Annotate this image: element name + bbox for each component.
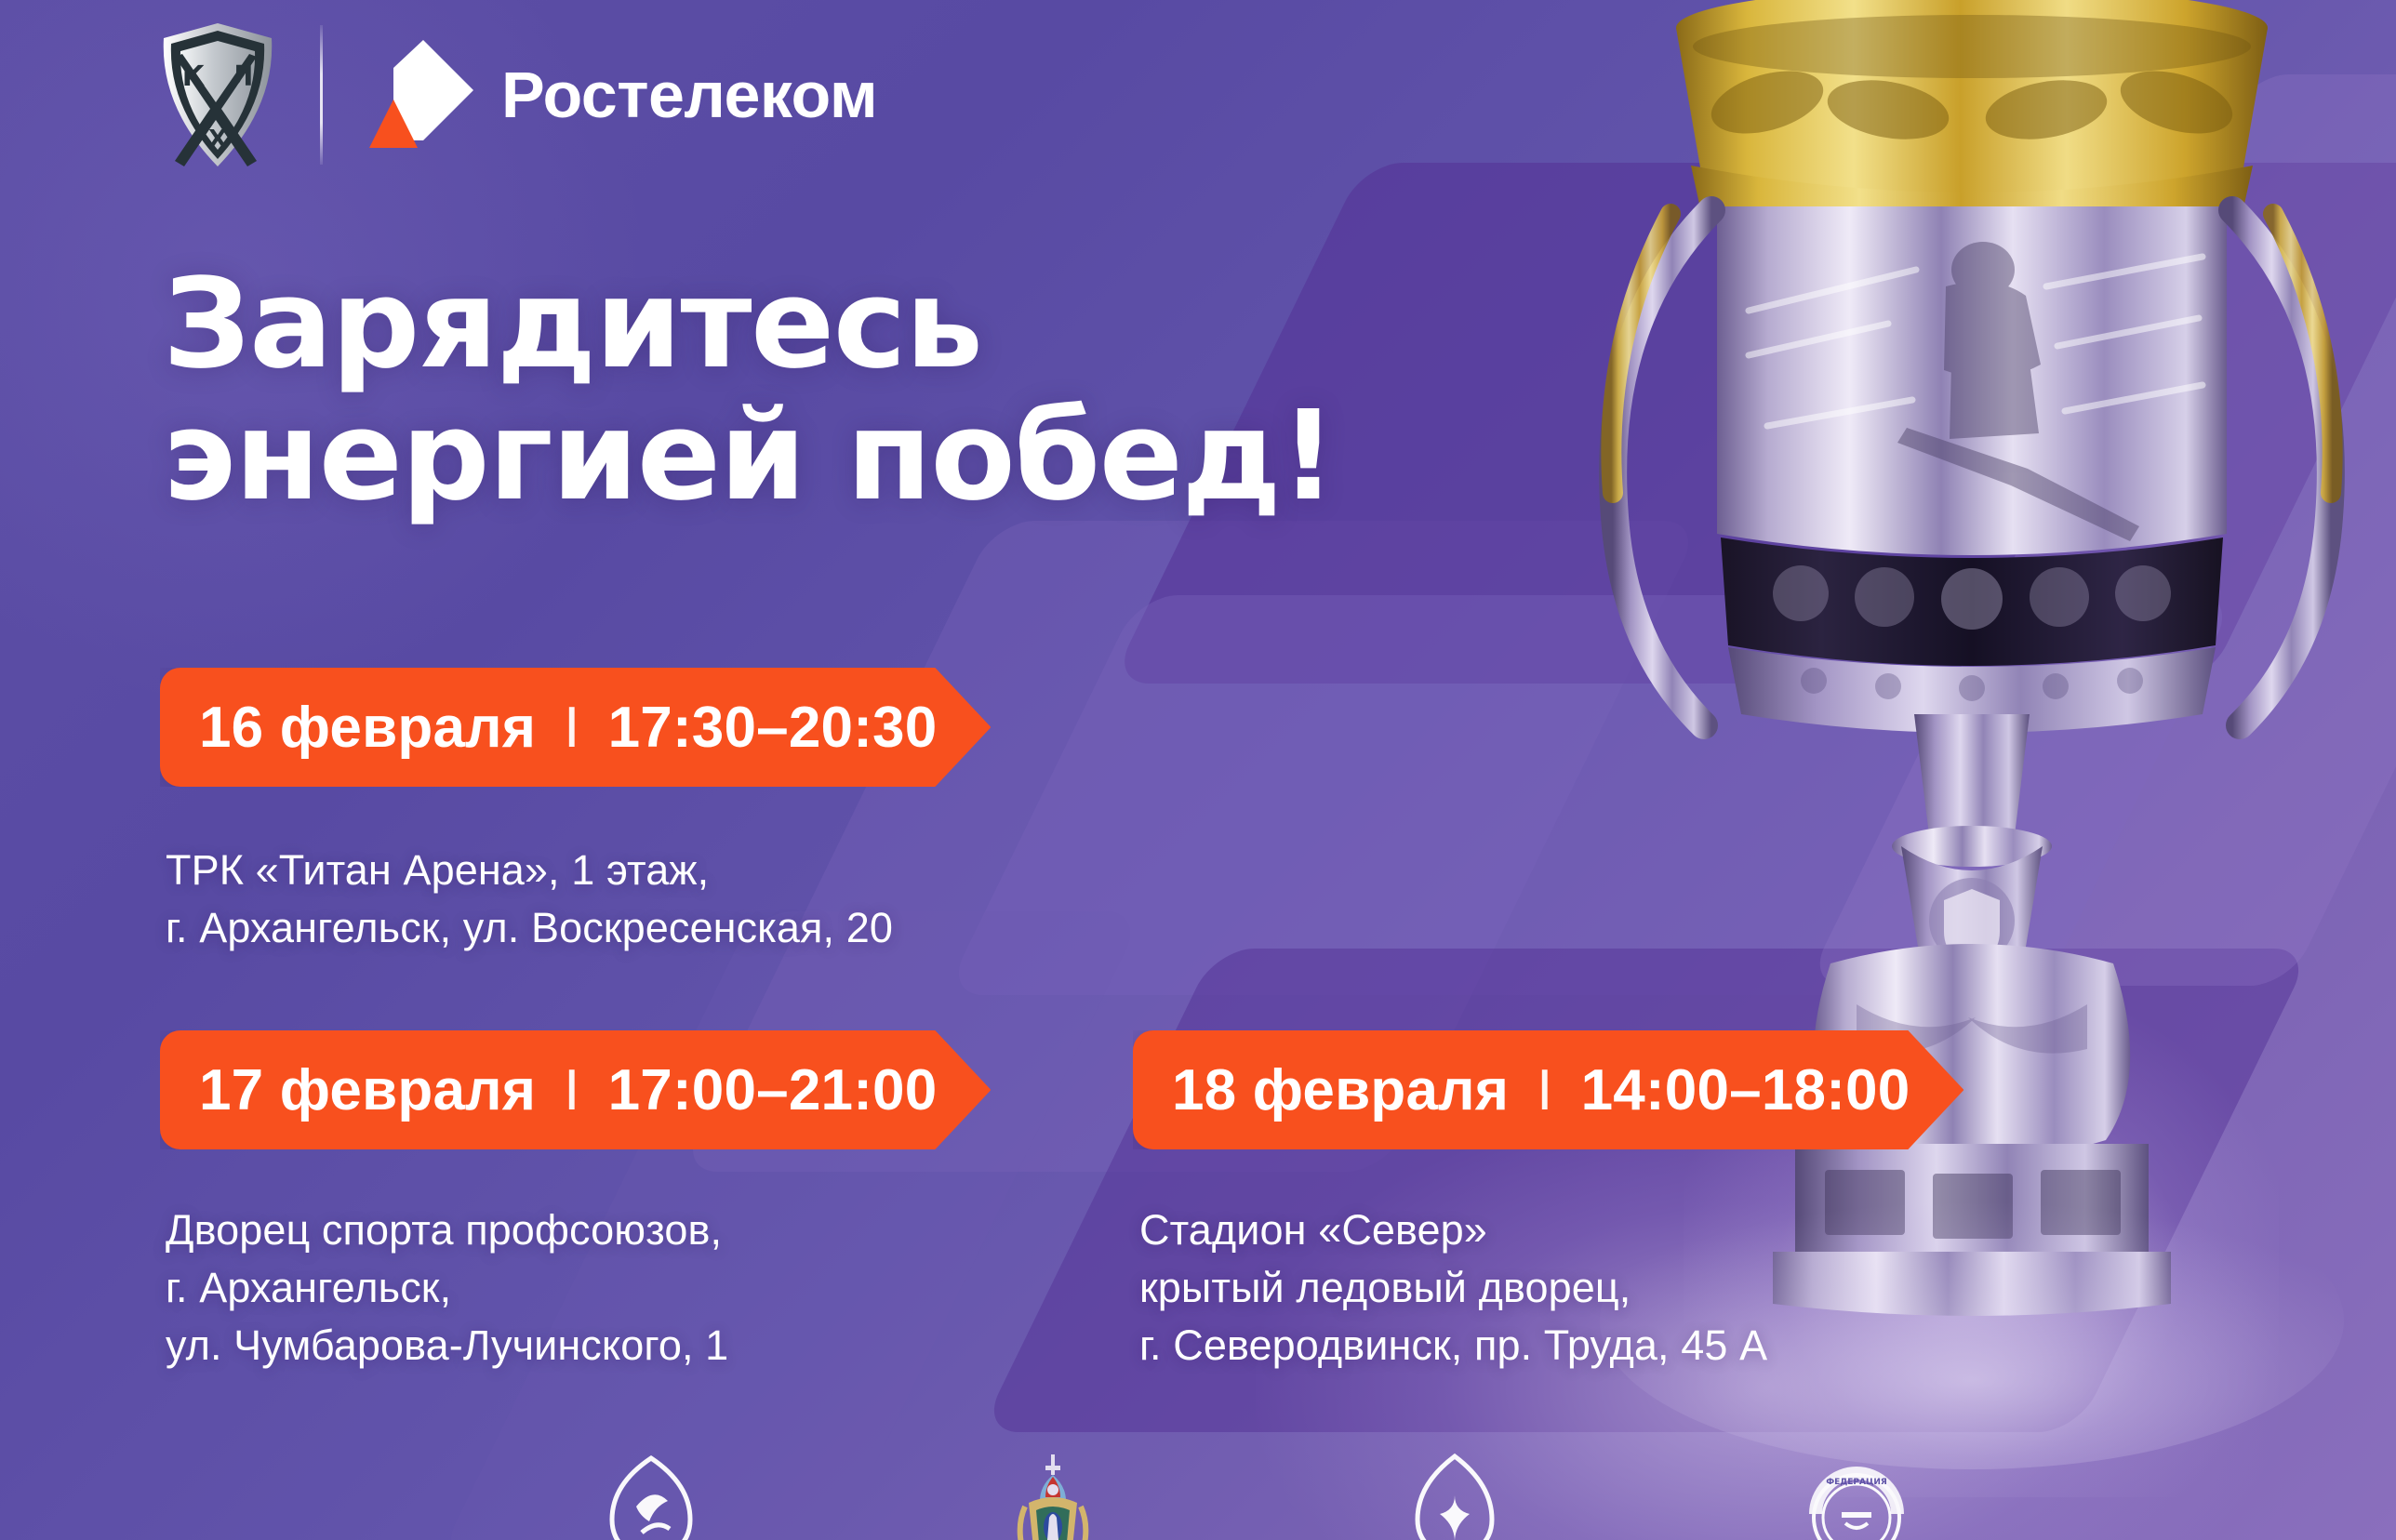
event-venue-2: Дворец спорта профсоюзов, г. Архангельск… <box>166 1201 728 1374</box>
partner-logo-3 <box>1393 1453 1516 1540</box>
event-badge-3[interactable]: 18 февраля I 14:00–18:00 <box>1133 1030 1963 1149</box>
svg-text:ФЕДЕРАЦИЯ: ФЕДЕРАЦИЯ <box>1826 1478 1887 1487</box>
event-time-1: 17:30–20:30 <box>608 695 938 761</box>
event-venue-1: ТРК «Титан Арена», 1 этаж, г. Архангельс… <box>166 842 893 957</box>
event-date-3: 18 февраля <box>1172 1057 1509 1123</box>
partner-logo-coat-of-arms <box>992 1453 1114 1540</box>
event-venue-3: Стадион «Север» крытый ледовый дворец, г… <box>1139 1201 1767 1374</box>
event-badge-1[interactable]: 16 февраля I 17:30–20:30 <box>160 668 991 787</box>
event-date-2: 17 февраля <box>199 1057 536 1123</box>
rostelecom-wordmark: Ростелеком <box>501 62 877 127</box>
promo-poster: К Л Х Ростелеком Зарядитесь энергией поб… <box>0 0 2396 1540</box>
event-separator-1: I <box>564 695 579 761</box>
header-logos: К Л Х Ростелеком <box>158 20 877 169</box>
page-title: Зарядитесь энергией побед! <box>163 259 1335 524</box>
rostelecom-mark-icon <box>366 38 475 152</box>
khl-shield-logo[interactable]: К Л Х <box>158 20 277 169</box>
svg-text:Х: Х <box>208 126 227 153</box>
logo-divider <box>320 25 323 165</box>
event-time-2: 17:00–21:00 <box>608 1057 938 1123</box>
event-separator-2: I <box>564 1057 579 1123</box>
event-badge-2[interactable]: 17 февраля I 17:00–21:00 <box>160 1030 991 1149</box>
svg-text:Л: Л <box>231 60 254 93</box>
event-time-3: 14:00–18:00 <box>1581 1057 1910 1123</box>
partner-logo-1 <box>590 1453 712 1540</box>
partner-logos: ФЕДЕРАЦИЯ <box>0 1453 2396 1540</box>
partner-logo-hockey-federation: ФЕДЕРАЦИЯ <box>1795 1453 1918 1540</box>
rostelecom-logo[interactable]: Ростелеком <box>366 38 877 152</box>
event-date-1: 16 февраля <box>199 695 536 761</box>
event-separator-3: I <box>1537 1057 1552 1123</box>
svg-text:К: К <box>182 60 206 93</box>
